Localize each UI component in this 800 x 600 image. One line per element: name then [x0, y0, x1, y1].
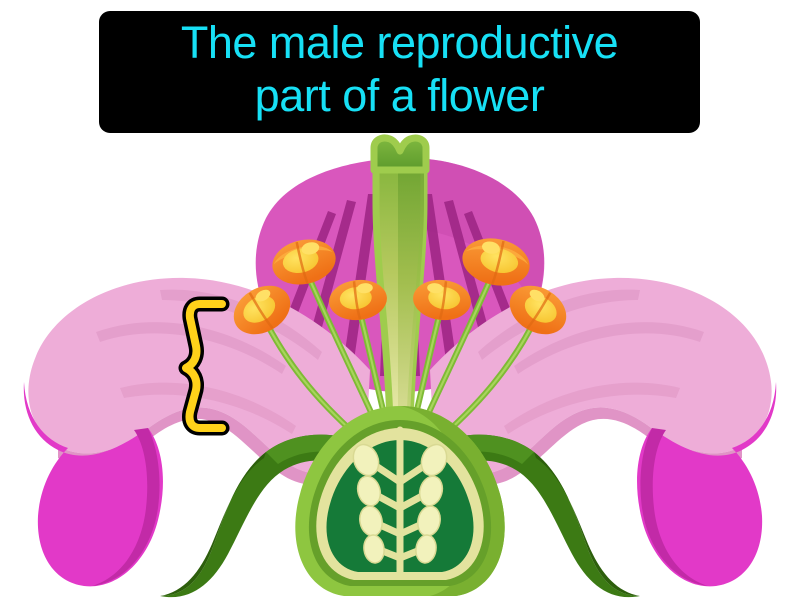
flower-cross-section-diagram [0, 130, 800, 600]
title-line-1: The male reproductive [181, 16, 618, 69]
page-root: The male reproductive part of a flower [0, 0, 800, 600]
title-banner: The male reproductive part of a flower [99, 11, 700, 133]
title-line-2: part of a flower [255, 69, 545, 122]
